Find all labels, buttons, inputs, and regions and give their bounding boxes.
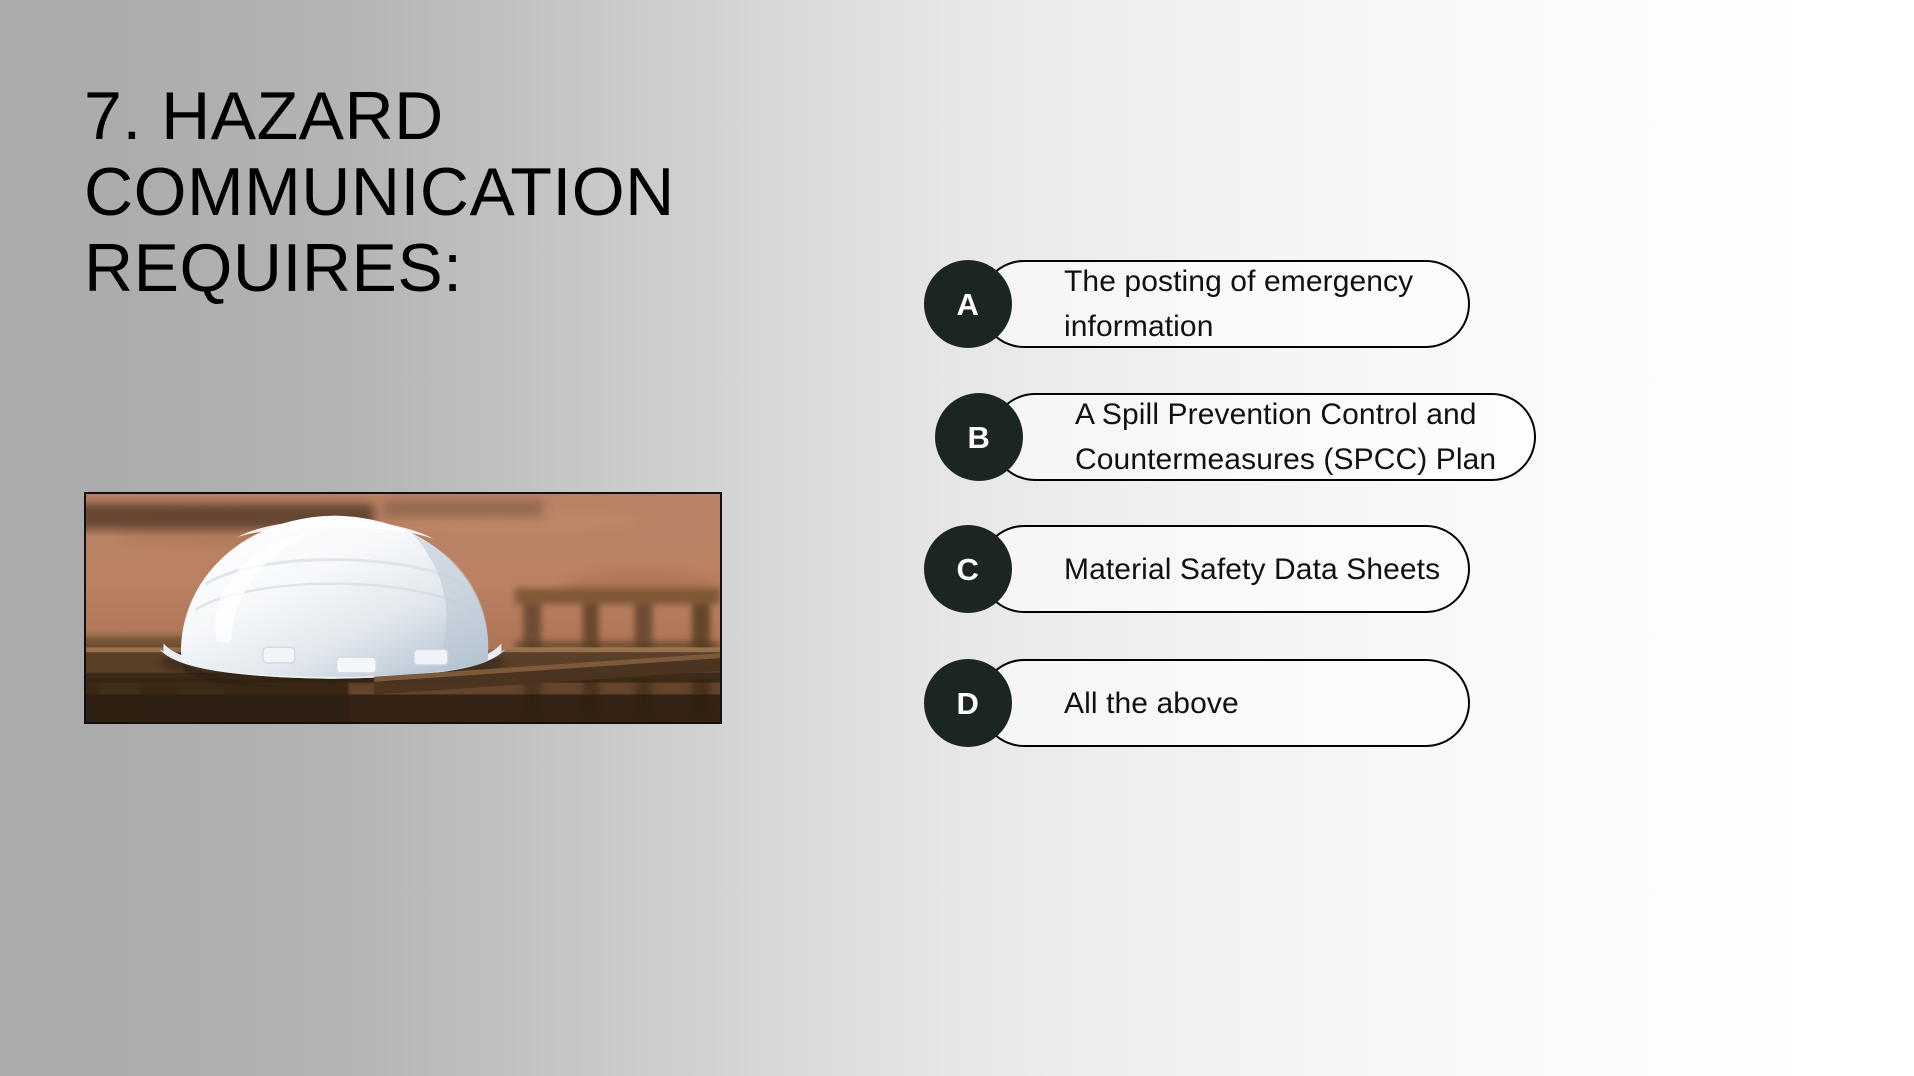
option-d-badge[interactable]: D [924, 659, 1012, 747]
option-b-box[interactable]: A Spill Prevention Control and Counterme… [991, 393, 1536, 481]
option-d-letter: D [957, 688, 980, 719]
option-b-badge[interactable]: B [935, 393, 1023, 481]
hard-hat-photo [84, 492, 722, 724]
option-c-badge[interactable]: C [924, 525, 1012, 613]
option-a-badge[interactable]: A [924, 260, 1012, 348]
option-c-letter: C [957, 554, 980, 585]
option-c-box[interactable]: Material Safety Data Sheets [980, 525, 1470, 613]
option-d-box[interactable]: All the above [980, 659, 1470, 747]
quiz-slide: 7. Hazard Communication Requires: [0, 0, 1914, 1076]
option-b-letter: B [968, 422, 991, 453]
hard-hat-illustration [86, 494, 720, 722]
option-d-label: All the above [1064, 681, 1239, 726]
option-b-label: A Spill Prevention Control and Counterme… [1075, 392, 1496, 482]
answer-option-c[interactable]: Material Safety Data Sheets C [924, 525, 1470, 613]
page-title: 7. Hazard Communication Requires: [84, 78, 844, 306]
option-a-letter: A [957, 289, 980, 320]
answer-option-b[interactable]: A Spill Prevention Control and Counterme… [935, 393, 1483, 481]
option-c-label: Material Safety Data Sheets [1064, 547, 1440, 592]
option-a-label: The posting of emergency information [1064, 259, 1413, 349]
answer-option-d[interactable]: All the above D [924, 659, 1470, 747]
answer-option-a[interactable]: The posting of emergency information A [924, 260, 1470, 348]
option-a-box[interactable]: The posting of emergency information [980, 260, 1470, 348]
